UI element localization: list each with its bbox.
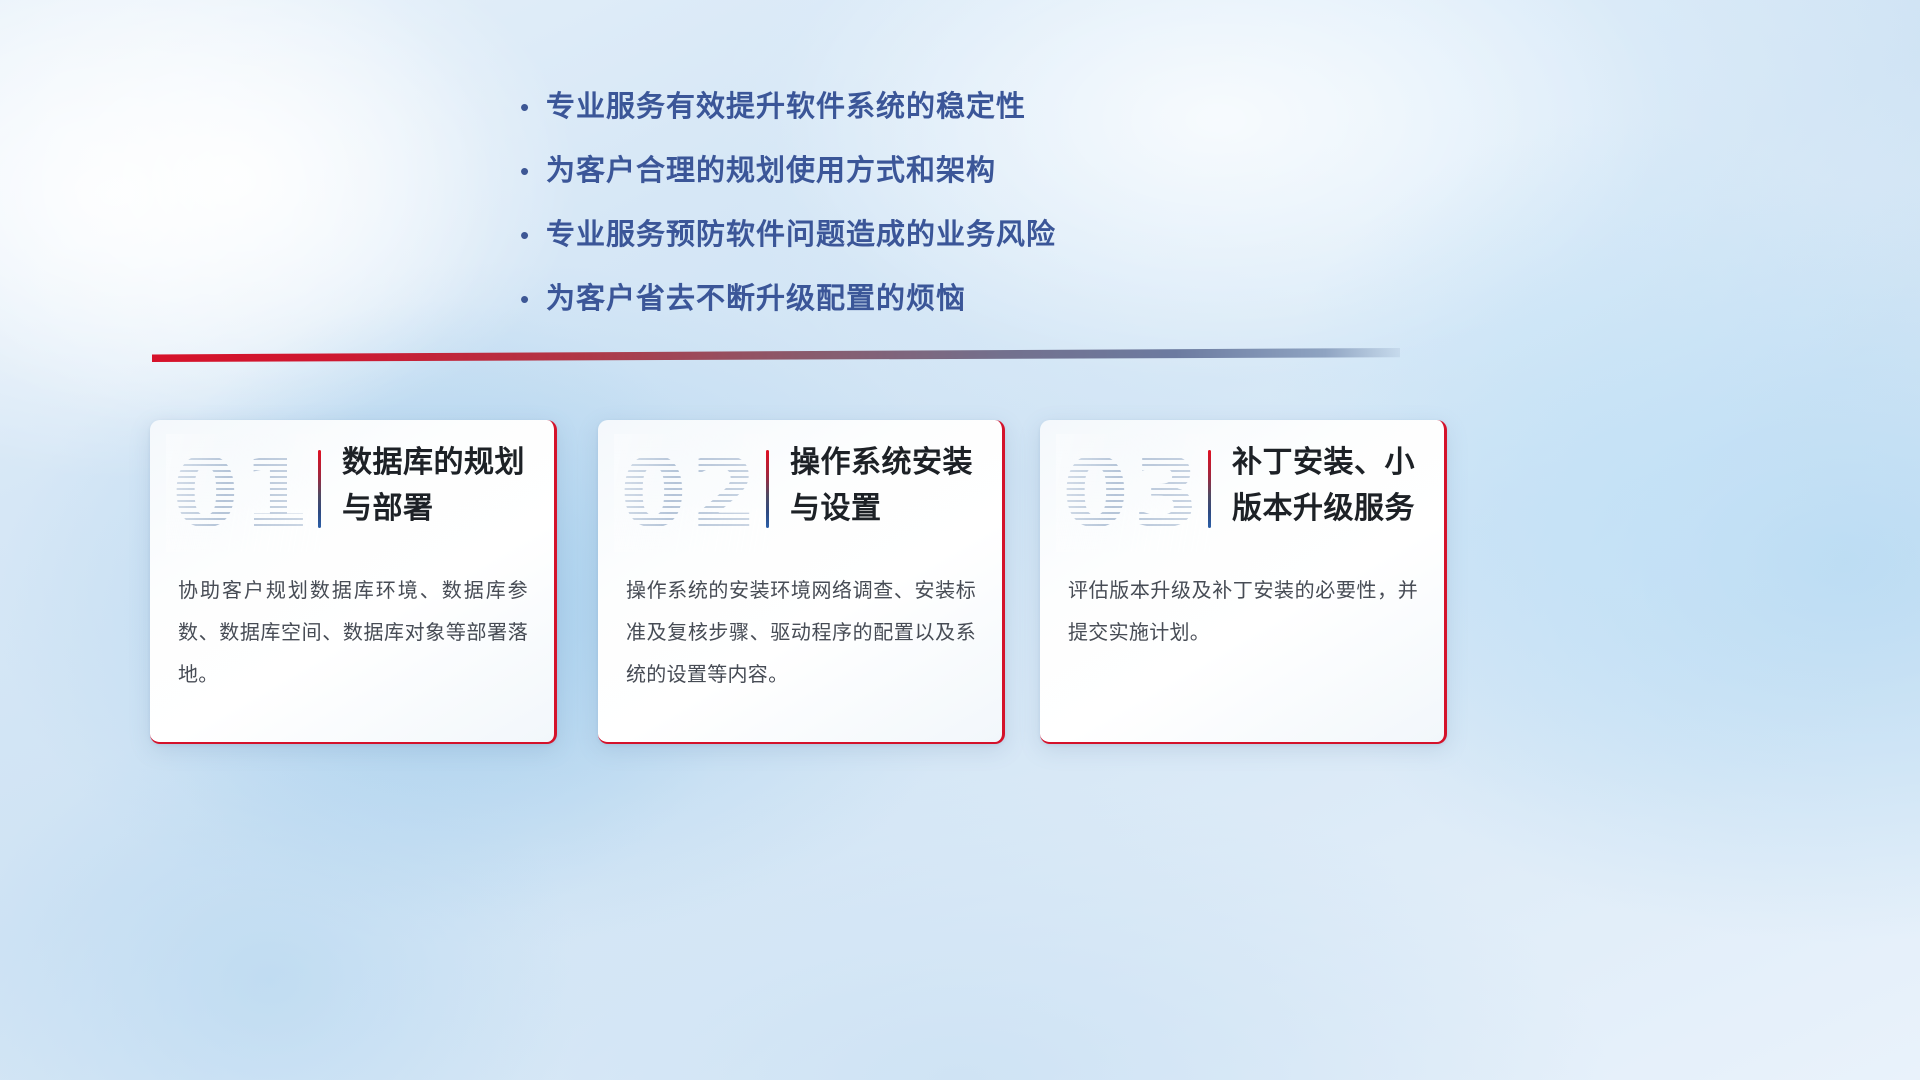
card-number-watermark: 01 [172,434,314,552]
service-card-03[interactable]: 03 补丁安装、小版本升级服务 评估版本升级及补丁安装的必要性，并提交实施计划。 [1040,420,1447,744]
card-number-watermark: 03 [1062,434,1204,552]
card-title: 数据库的规划与部署 [342,440,538,532]
card-title: 补丁安装、小版本升级服务 [1232,440,1428,532]
bullet-dot-icon: • [520,86,546,128]
card-description: 操作系统的安装环境网络调查、安装标准及复核步骤、驱动程序的配置以及系统的设置等内… [626,570,976,696]
bullet-text: 专业服务预防软件问题造成的业务风险 [546,214,1056,256]
section-divider [152,348,1400,362]
card-title: 操作系统安装与设置 [790,440,986,532]
card-description: 协助客户规划数据库环境、数据库参数、数据库空间、数据库对象等部署落地。 [178,570,528,696]
bullet-dot-icon: • [520,214,546,256]
bullet-item: • 为客户省去不断升级配置的烦恼 [520,278,1220,320]
bullet-item: • 为客户合理的规划使用方式和架构 [520,150,1220,192]
card-header: 02 操作系统安装与设置 [598,420,1002,554]
divider-gradient-bar [152,348,1400,362]
bullet-dot-icon: • [520,278,546,320]
background-glow-bottom-left [0,720,580,1080]
service-card-02[interactable]: 02 操作系统安装与设置 操作系统的安装环境网络调查、安装标准及复核步骤、驱动程… [598,420,1005,744]
bullet-text: 为客户合理的规划使用方式和架构 [546,150,996,192]
bullet-text: 专业服务有效提升软件系统的稳定性 [546,86,1026,128]
service-card-01[interactable]: 01 数据库的规划与部署 协助客户规划数据库环境、数据库参数、数据库空间、数据库… [150,420,557,744]
card-header: 01 数据库的规划与部署 [150,420,554,554]
bullet-dot-icon: • [520,150,546,192]
card-accent-bar [318,450,321,528]
card-description: 评估版本升级及补丁安装的必要性，并提交实施计划。 [1068,570,1418,654]
card-number-watermark: 02 [620,434,762,552]
card-accent-bar [766,450,769,528]
slide-canvas: • 专业服务有效提升软件系统的稳定性 • 为客户合理的规划使用方式和架构 • 专… [0,0,1920,1080]
bullet-item: • 专业服务预防软件问题造成的业务风险 [520,214,1220,256]
benefits-bullet-list: • 专业服务有效提升软件系统的稳定性 • 为客户合理的规划使用方式和架构 • 专… [520,86,1220,342]
background-glow-top-left [0,0,580,440]
card-accent-bar [1208,450,1211,528]
card-header: 03 补丁安装、小版本升级服务 [1040,420,1444,554]
bullet-text: 为客户省去不断升级配置的烦恼 [546,278,966,320]
bullet-item: • 专业服务有效提升软件系统的稳定性 [520,86,1220,128]
